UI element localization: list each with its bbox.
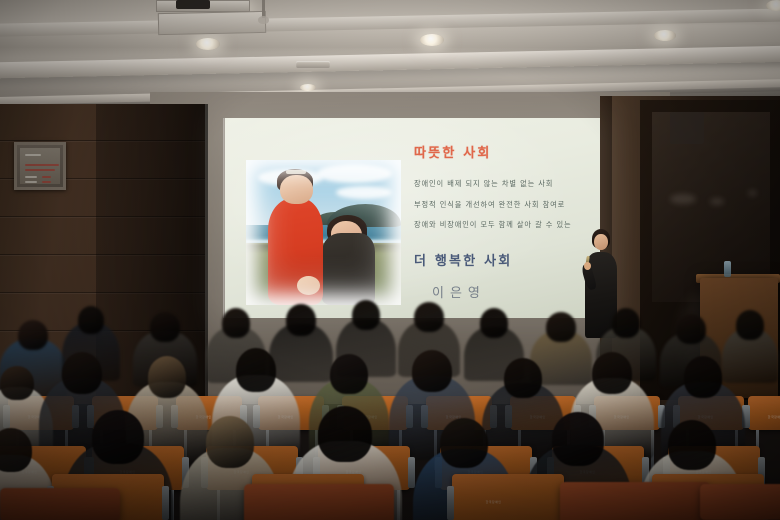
ceiling-downlight (654, 30, 676, 41)
water-bottle (724, 261, 731, 277)
ceiling-downlight (196, 38, 220, 50)
projector-ceiling-panel (158, 11, 266, 35)
audience-member-head (222, 308, 250, 338)
ceiling-rod (262, 0, 265, 18)
presenter-head (594, 234, 608, 250)
audience-member-head (440, 418, 488, 468)
slide-body-line: 부정적 인식을 개선하여 완전한 사회 참여로 (414, 195, 594, 216)
auditorium-chair[interactable]: 한국장애인 (748, 396, 780, 430)
chair-bracket (408, 457, 415, 488)
slide-subheading: 더 행복한 사회 (414, 250, 512, 269)
audience-member-head (736, 310, 764, 340)
auditorium-chair[interactable]: 한국장애인 (452, 474, 564, 520)
auditorium-chair-front[interactable] (244, 484, 394, 520)
audience-member-head (552, 412, 604, 466)
audience-member-head (92, 410, 144, 464)
slide-body-text: 장애인이 배제 되지 않는 차별 없는 사회 부정적 인식을 개선하여 완전한 … (414, 174, 594, 236)
audience-member-head (330, 354, 368, 394)
audience-member-head (150, 312, 180, 342)
auditorium-chair-front[interactable] (0, 488, 120, 520)
audience-member-head (206, 416, 254, 468)
audience: 한국장애인한국장애인한국장애인한국장애인한국장애인한국장애인한국장애인한국장애인… (0, 278, 780, 520)
ceiling-downlight (300, 84, 316, 91)
audience-member-head (286, 304, 316, 336)
chair-bracket (162, 486, 169, 520)
ceiling-vent (296, 61, 330, 68)
lecture-hall-photo: 따뜻한 사회 장애인이 배제 되지 않는 차별 없는 사회 부정적 인식을 개선… (0, 0, 780, 520)
auditorium-chair-front[interactable] (560, 482, 710, 520)
audience-member-head (352, 300, 380, 330)
wall-mounted-speaker (670, 112, 704, 144)
audience-member-head (414, 302, 444, 332)
audience-member-head (0, 366, 34, 400)
audience-member-head (480, 308, 508, 338)
audience-member-head (412, 350, 452, 392)
projector-icon (176, 0, 210, 9)
ceiling-downlight (420, 34, 444, 46)
slide-heading: 따뜻한 사회 (414, 142, 492, 161)
audience-member-head (18, 320, 48, 350)
audience-member-head (546, 312, 576, 342)
audience-member-head (78, 306, 104, 334)
audience-member-head (504, 358, 542, 398)
chair-label: 한국장애인 (768, 415, 780, 419)
audience-member-head (676, 314, 706, 344)
presenter-hand (584, 262, 591, 270)
chair-label: 한국장애인 (486, 500, 502, 504)
audience-member-head (148, 356, 186, 398)
chair-bracket (447, 486, 454, 520)
wall-notice-board (20, 148, 60, 184)
wall-notice-frame (14, 142, 66, 190)
audience-member-head (684, 356, 722, 398)
audience-member-head (592, 352, 632, 394)
slide-body-line: 장애인이 배제 되지 않는 차별 없는 사회 (414, 174, 594, 195)
audience-member-head (236, 348, 276, 392)
audience-member-head (612, 308, 640, 338)
audience-member-head (318, 406, 372, 462)
slide-body-line: 장애와 비장애인이 모두 함께 살아 갈 수 있는 (414, 215, 594, 236)
auditorium-chair-front[interactable] (700, 484, 780, 520)
ceiling-soffit-band (0, 45, 780, 78)
audience-member-head (62, 352, 102, 394)
audience-member-head (668, 420, 716, 470)
